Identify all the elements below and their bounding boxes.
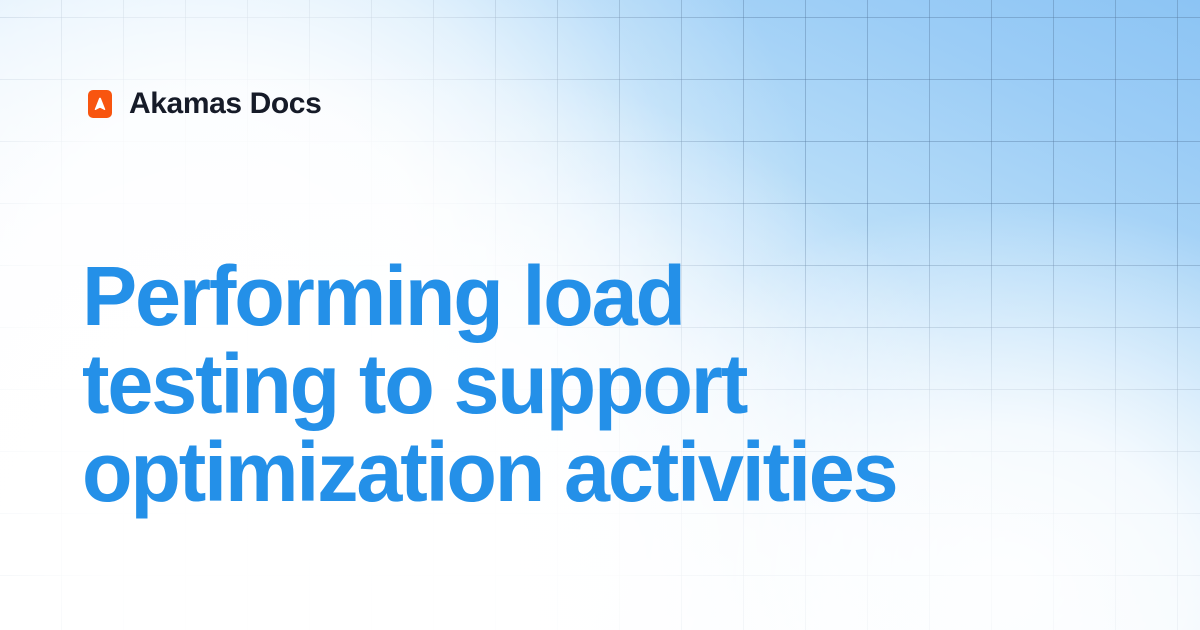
akamas-arrow-logo-icon: [88, 90, 112, 118]
page-title: Performing load testing to support optim…: [82, 252, 1116, 516]
card-content: Akamas Docs Performing load testing to s…: [0, 0, 1200, 630]
page-title-line-1: Performing load: [82, 252, 1116, 340]
brand-lockup: Akamas Docs: [88, 84, 321, 124]
page-title-line-2: testing to support: [82, 340, 1116, 428]
og-card: Akamas Docs Performing load testing to s…: [0, 0, 1200, 630]
page-title-line-3: optimization activities: [82, 428, 1116, 516]
brand-name: Akamas Docs: [129, 89, 321, 119]
